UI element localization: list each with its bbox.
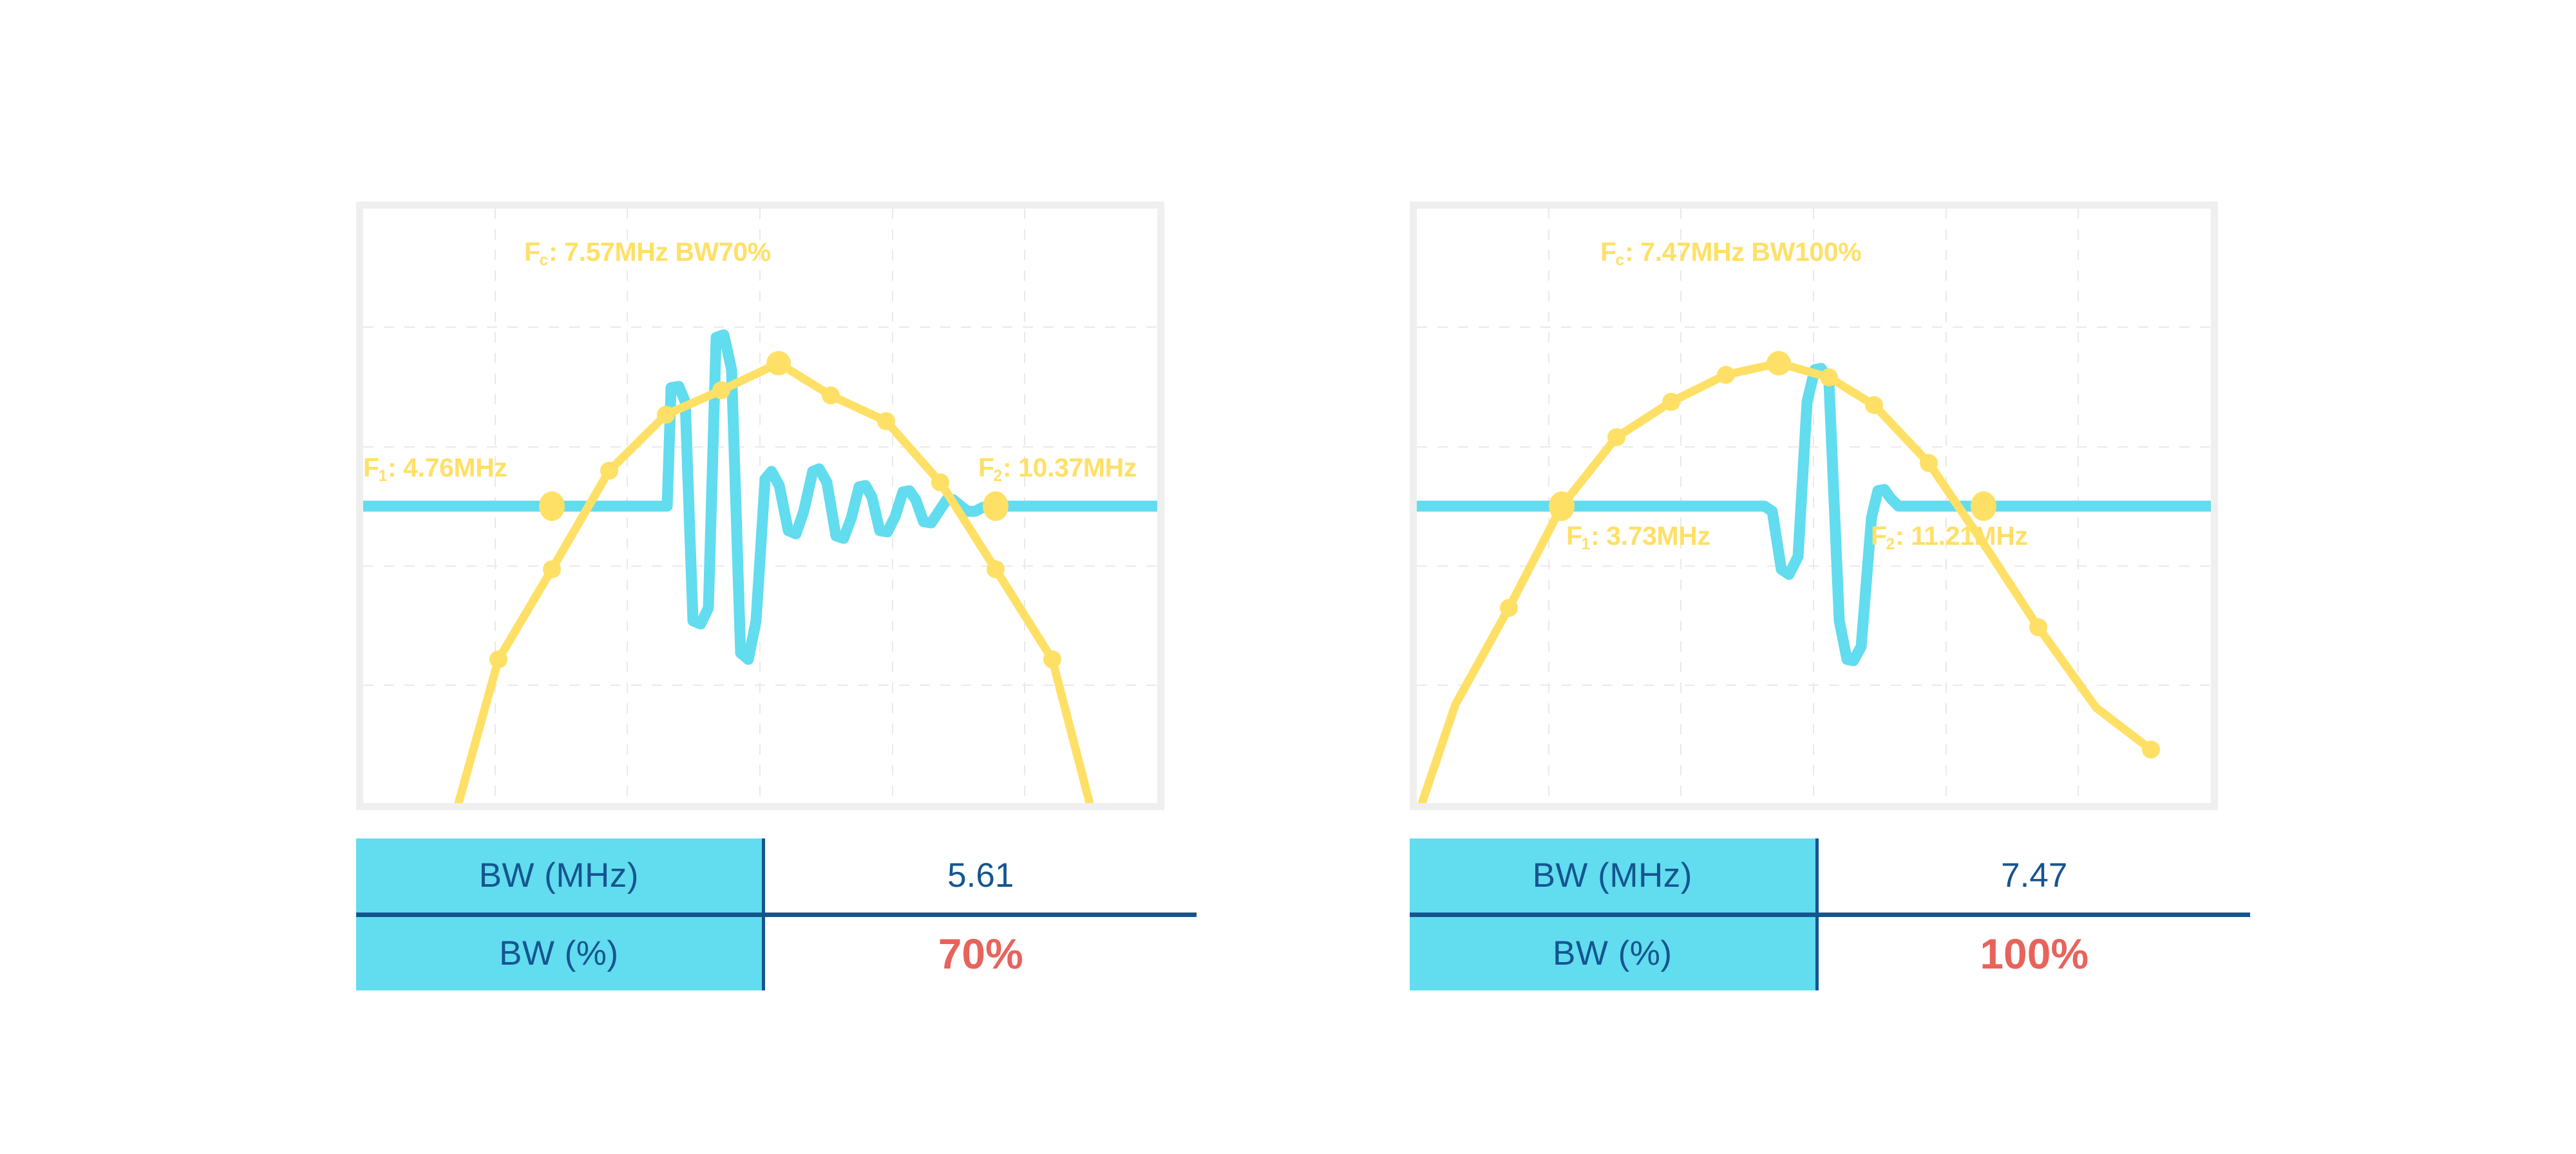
row-label-bw-mhz: BW (MHz) xyxy=(356,838,763,914)
table-row: BW (%) 70% xyxy=(356,914,1197,990)
f1-marker-left xyxy=(539,491,565,521)
plot-svg-right xyxy=(1417,209,2211,803)
fc-subscript: c xyxy=(539,252,547,269)
f2-marker-left xyxy=(983,491,1009,521)
row-label-bw-mhz: BW (MHz) xyxy=(1410,838,1817,914)
fc-symbol: F xyxy=(524,237,540,267)
plot-area-left: Fc: 7.57MHz BW70% F1: 4.76MHz F2: 10.37M… xyxy=(363,209,1157,803)
f1-value-text: : 4.76MHz xyxy=(388,453,507,482)
f2-value-text: : 10.37MHz xyxy=(1003,453,1137,482)
fc-value-text: : 7.57MHz BW70% xyxy=(549,237,771,267)
f2-symbol: F xyxy=(1871,521,1887,551)
f1-value-text: : 3.73MHz xyxy=(1591,521,1710,551)
row-value-bw-percent: 70% xyxy=(763,914,1197,990)
f1-subscript: 1 xyxy=(1581,536,1589,553)
spectrum-trace-right xyxy=(1422,363,2151,803)
results-table-left: BW (MHz) 5.61 BW (%) 70% xyxy=(356,838,1197,990)
f2-symbol: F xyxy=(978,453,994,482)
annotation-f2-left: F2: 10.37MHz xyxy=(978,455,1137,481)
pulse-trace-right xyxy=(1417,368,2211,661)
plot-svg-left xyxy=(363,209,1157,803)
annotation-center-frequency-right: Fc: 7.47MHz BW100% xyxy=(1600,239,1861,265)
table-row: BW (MHz) 7.47 xyxy=(1410,838,2250,914)
f2-subscript: 2 xyxy=(1886,536,1894,553)
measurement-panel-right: Fc: 7.47MHz BW100% F1: 3.73MHz F2: 11.21… xyxy=(1410,202,2218,810)
annotation-f1-left: F1: 4.76MHz xyxy=(363,455,507,481)
f2-marker-right xyxy=(1971,491,1996,521)
results-table-right: BW (MHz) 7.47 BW (%) 100% xyxy=(1410,838,2250,990)
table-row: BW (MHz) 5.61 xyxy=(356,838,1197,914)
fc-subscript: c xyxy=(1615,252,1624,269)
f1-symbol: F xyxy=(363,453,379,482)
annotation-center-frequency-left: Fc: 7.57MHz BW70% xyxy=(524,239,771,265)
row-label-bw-percent: BW (%) xyxy=(1410,914,1817,990)
f2-subscript: 2 xyxy=(993,468,1001,485)
f1-symbol: F xyxy=(1566,521,1582,551)
fc-value-text: : 7.47MHz BW100% xyxy=(1625,237,1861,267)
row-value-bw-percent: 100% xyxy=(1817,914,2250,990)
plot-area-right: Fc: 7.47MHz BW100% F1: 3.73MHz F2: 11.21… xyxy=(1417,209,2211,803)
f2-value-text: : 11.21MHz xyxy=(1895,521,2028,551)
table-row: BW (%) 100% xyxy=(1410,914,2250,990)
f1-subscript: 1 xyxy=(378,468,386,485)
row-label-bw-percent: BW (%) xyxy=(356,914,763,990)
row-value-bw-mhz: 5.61 xyxy=(763,838,1197,914)
fc-symbol: F xyxy=(1600,237,1616,267)
spectrum-trace-left xyxy=(459,363,1090,803)
f1-marker-right xyxy=(1549,491,1575,521)
row-value-bw-mhz: 7.47 xyxy=(1817,838,2250,914)
measurement-panel-left: Fc: 7.57MHz BW70% F1: 4.76MHz F2: 10.37M… xyxy=(356,202,1164,810)
annotation-f2-right: F2: 11.21MHz xyxy=(1871,523,2028,549)
annotation-f1-right: F1: 3.73MHz xyxy=(1566,523,1710,549)
figure-root: Fc: 7.57MHz BW70% F1: 4.76MHz F2: 10.37M… xyxy=(0,0,2576,1154)
plot-frame-left: Fc: 7.57MHz BW70% F1: 4.76MHz F2: 10.37M… xyxy=(356,202,1164,810)
plot-frame-right: Fc: 7.47MHz BW100% F1: 3.73MHz F2: 11.21… xyxy=(1410,202,2218,810)
